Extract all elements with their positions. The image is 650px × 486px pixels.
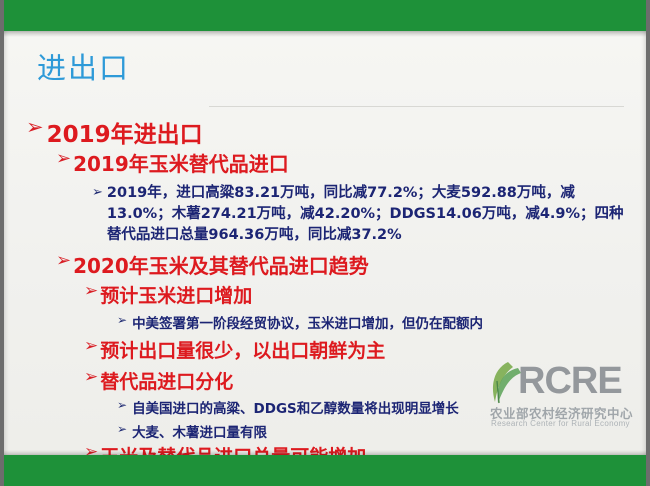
arrow-bullet-icon: ➢ — [84, 283, 98, 300]
watermark-acronym: RCRE — [518, 359, 622, 403]
detail-text: 自美国进口的高粱、DDGS和乙醇数量将出现明显增长 — [132, 397, 459, 417]
section-2019-import-export[interactable]: ➢ 2019年进出口 — [26, 115, 203, 149]
paragraph-2019-import-figures: ➢ 2019年，进口高粱83.21万吨，同比减77.2%；大麦592.88万吨，… — [92, 183, 632, 246]
subheading-label: 预计出口量很少，以出口朝鲜为主 — [100, 336, 385, 363]
leaf-icon — [488, 361, 522, 405]
detail-barley-cassava-limited: ➢ 大麦、木薯进口量有限 — [117, 421, 267, 441]
arrow-bullet-icon: ➢ — [92, 186, 103, 199]
arrow-bullet-icon: ➢ — [117, 314, 127, 326]
section-label: 2019年进出口 — [47, 115, 203, 149]
arrow-bullet-icon: ➢ — [117, 399, 127, 411]
arrow-bullet-icon: ➢ — [26, 117, 44, 138]
arrow-bullet-icon: ➢ — [56, 252, 71, 270]
arrow-bullet-icon: ➢ — [84, 369, 98, 386]
heading-label: 2020年玉米及其替代品进口趋势 — [73, 250, 369, 279]
arrow-bullet-icon: ➢ — [56, 150, 71, 168]
slide-canvas: RCRE 农业部农村经济研究中心 Research Center for Rur… — [4, 31, 646, 455]
bottom-green-bar — [0, 455, 650, 486]
page-title: 进出口 — [37, 45, 130, 87]
top-green-bar — [0, 0, 650, 31]
slide-right-border — [646, 0, 650, 486]
paragraph-text: 2019年，进口高粱83.21万吨，同比减77.2%；大麦592.88万吨，减1… — [107, 183, 632, 246]
slide-left-border — [0, 0, 4, 486]
watermark-chinese-name: 农业部农村经济研究中心 — [490, 403, 633, 422]
subheading-substitute-import-divergence[interactable]: ➢ 替代品进口分化 — [84, 367, 233, 394]
arrow-bullet-icon: ➢ — [117, 423, 127, 435]
detail-china-us-trade-deal: ➢ 中美签署第一阶段经贸协议，玉米进口增加，但仍在配额内 — [117, 312, 483, 332]
presentation-slide: RCRE 农业部农村经济研究中心 Research Center for Rur… — [0, 0, 650, 486]
subheading-corn-import-increase[interactable]: ➢ 预计玉米进口增加 — [84, 281, 252, 308]
subheading-label: 预计玉米进口增加 — [100, 281, 252, 308]
subheading-label: 替代品进口分化 — [100, 367, 233, 394]
detail-text: 中美签署第一阶段经贸协议，玉米进口增加，但仍在配额内 — [132, 312, 483, 332]
detail-text: 大麦、木薯进口量有限 — [132, 421, 267, 441]
watermark-english-name: Research Center for Rural Economy — [491, 419, 630, 428]
heading-2020-corn-substitute-trend[interactable]: ➢ 2020年玉米及其替代品进口趋势 — [56, 250, 369, 279]
heading-2019-corn-substitute-import[interactable]: ➢ 2019年玉米替代品进口 — [56, 148, 289, 177]
detail-us-sorghum-ddgs-ethanol: ➢ 自美国进口的高粱、DDGS和乙醇数量将出现明显增长 — [117, 397, 459, 417]
title-underline-rule — [209, 106, 624, 107]
arrow-bullet-icon: ➢ — [84, 338, 98, 355]
subheading-export-small[interactable]: ➢ 预计出口量很少，以出口朝鲜为主 — [84, 336, 385, 363]
rcre-watermark-logo: RCRE 农业部农村经济研究中心 Research Center for Rur… — [484, 361, 640, 433]
heading-label: 2019年玉米替代品进口 — [73, 148, 289, 177]
